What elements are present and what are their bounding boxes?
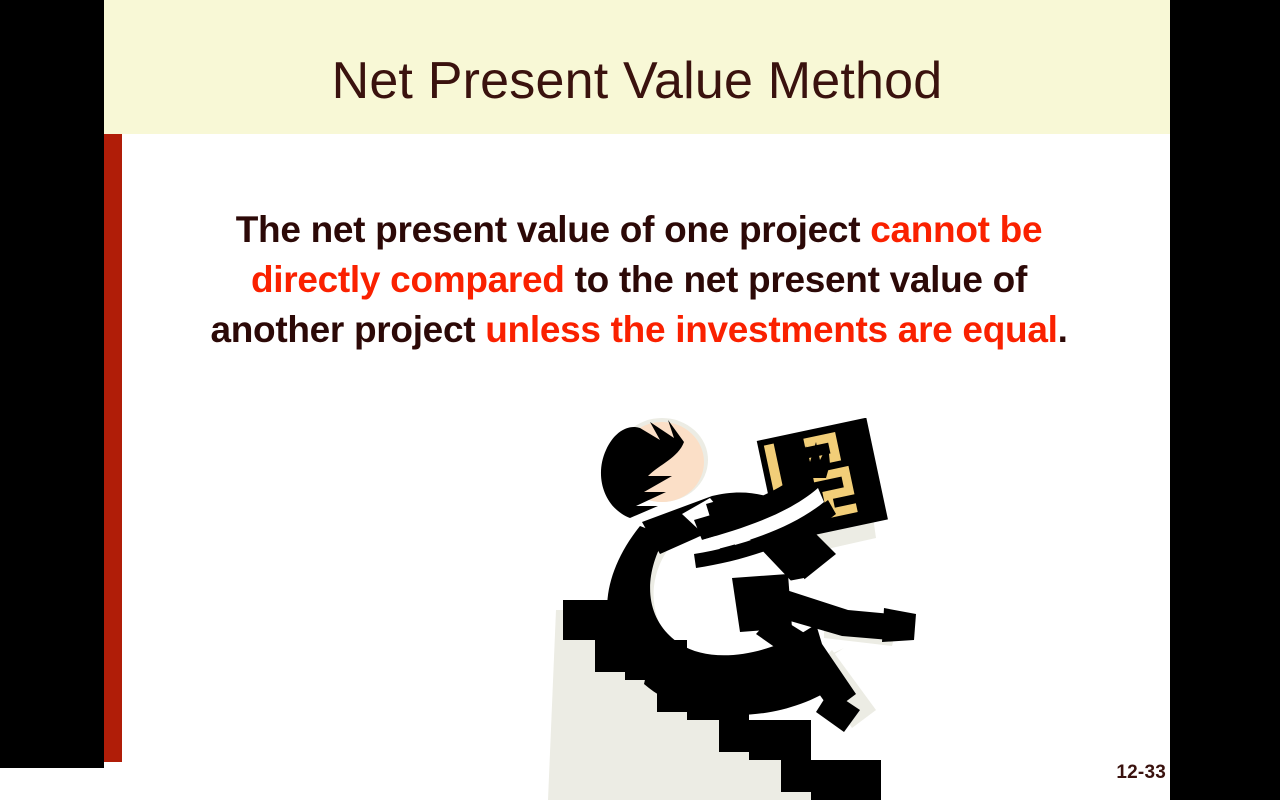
accent-bar (104, 134, 122, 762)
right-letterbox (1170, 0, 1280, 800)
slide-frame: Net Present Value Method The net present… (0, 0, 1280, 800)
body-segment-1: The net present value of one project (236, 209, 870, 250)
head (601, 420, 704, 518)
body-segment-4-highlight: unless the investments are equal (485, 309, 1057, 350)
page-title: Net Present Value Method (104, 0, 1170, 134)
title-band: Net Present Value Method (104, 0, 1170, 134)
falling-businessman-illustration (444, 418, 944, 800)
page-number: 12-33 (1104, 762, 1166, 784)
slide-canvas: Net Present Value Method The net present… (104, 0, 1170, 800)
left-letterbox-bottom-white (0, 768, 104, 800)
body-text: The net present value of one project can… (184, 205, 1094, 355)
body-segment-5: . (1058, 309, 1068, 350)
left-letterbox (0, 0, 104, 768)
